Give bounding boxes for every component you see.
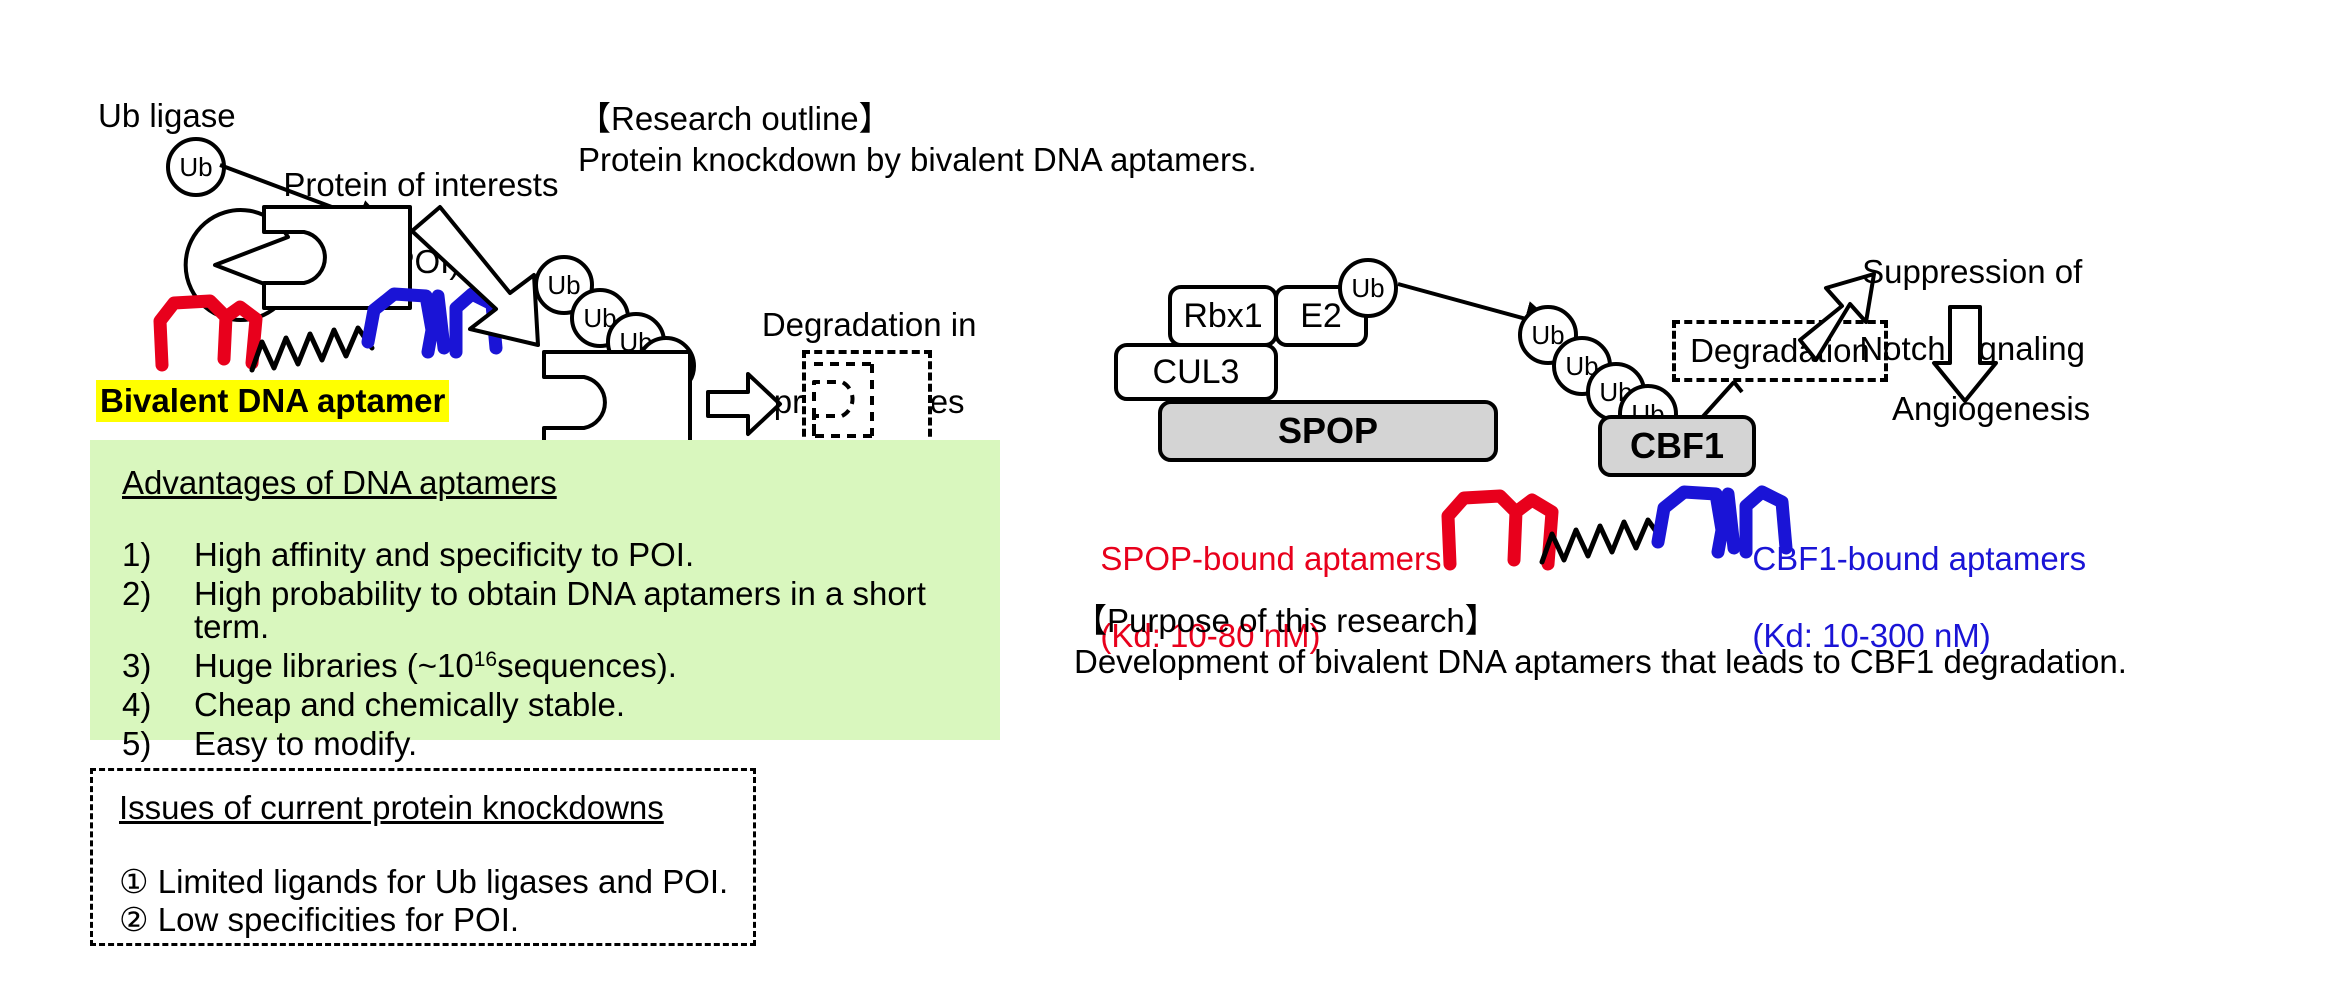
advantage-item: 2) High probability to obtain DNA aptame… [122, 577, 1000, 643]
cbf1-aptamer-line1: CBF1-bound aptamers [1752, 540, 2086, 577]
advantage-number: 4) [122, 688, 194, 721]
advantage-item: 4) Cheap and chemically stable. [122, 688, 1000, 721]
ub-chain-text: Ub [547, 272, 580, 298]
spop-label: SPOP [1278, 410, 1378, 452]
advantage-text: High probability to obtain DNA aptamers … [194, 577, 1000, 643]
advantage-number: 2) [122, 577, 194, 643]
purpose-title: 【Purpose of this research】 [1074, 602, 1498, 640]
ub-badge-text: Ub [179, 154, 212, 180]
purpose-body: Development of bivalent DNA aptamers tha… [1074, 643, 2127, 681]
advantage-item: 5) Easy to modify. [122, 727, 1000, 760]
issues-title: Issues of current protein knockdowns [119, 789, 664, 827]
advantage-number: 5) [122, 727, 194, 760]
bivalent-aptamer-label: Bivalent DNA aptamer [96, 380, 449, 422]
poi-shape-dashed [812, 362, 907, 438]
cul3-label: CUL3 [1153, 353, 1240, 392]
advantage-text: High affinity and specificity to POI. [194, 538, 694, 571]
ub-ligase-label: Ub ligase [98, 97, 236, 135]
advantage-text: Huge libraries (~10 [194, 649, 474, 682]
cul3-box: CUL3 [1114, 343, 1278, 401]
advantage-text: Easy to modify. [194, 727, 417, 760]
cbf1-aptamer-label: CBF1-bound aptamers (Kd: 10-300 nM) [1734, 502, 2086, 655]
ub-badge-text: Ub [1351, 275, 1384, 301]
issue-item: ① Limited ligands for Ub ligases and POI… [119, 863, 728, 901]
suppression-line1: Suppression of [1862, 253, 2082, 290]
angiogenesis-label: Angiogenesis [1892, 390, 2090, 428]
research-outline-body: Protein knockdown by bivalent DNA aptame… [578, 141, 1257, 179]
advantage-number: 3) [122, 649, 194, 682]
advantage-item: 1) High affinity and specificity to POI. [122, 538, 1000, 571]
advantages-title: Advantages of DNA aptamers [122, 464, 557, 502]
advantage-text-after: sequences). [497, 649, 677, 682]
research-outline-title: 【Research outline】 [578, 100, 892, 138]
issue-item: ② Low specificities for POI. [119, 901, 519, 939]
advantages-panel: Advantages of DNA aptamers 1) High affin… [90, 440, 1000, 740]
rbx1-label: Rbx1 [1183, 297, 1262, 336]
degradation-label-line1: Degradation in [762, 306, 977, 343]
spop-aptamer-line1: SPOP-bound aptamers [1100, 540, 1441, 577]
e2-label: E2 [1300, 297, 1342, 336]
ub-badge-e2: Ub [1338, 258, 1398, 318]
advantage-exponent: 16 [474, 649, 497, 682]
issues-panel: Issues of current protein knockdowns ① L… [90, 768, 756, 946]
advantage-number: 1) [122, 538, 194, 571]
advantage-item: 3) Huge libraries (~1016 sequences). [122, 649, 1000, 682]
advantage-text: Cheap and chemically stable. [194, 688, 625, 721]
rbx1-box: Rbx1 [1168, 285, 1278, 347]
